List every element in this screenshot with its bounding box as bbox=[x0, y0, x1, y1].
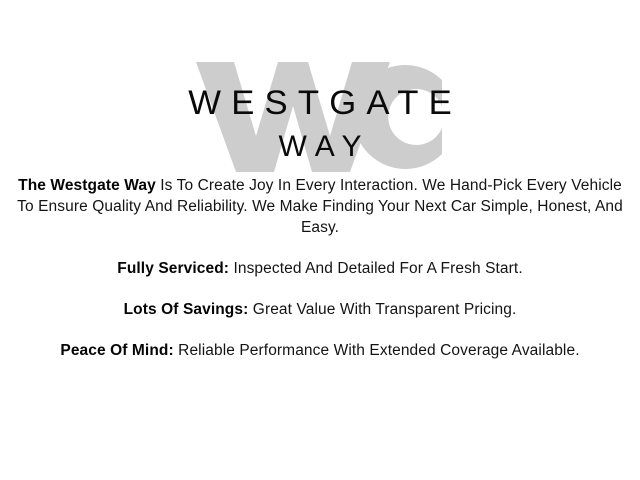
paragraph-lots-of-savings: Lots Of Savings: Great Value With Transp… bbox=[12, 299, 628, 320]
paragraph-peace-of-mind: Peace Of Mind: Reliable Performance With… bbox=[12, 340, 628, 361]
paragraph-fully-serviced: Fully Serviced: Inspected And Detailed F… bbox=[12, 258, 628, 279]
paragraph-philosophy: The Westgate Way Is To Create Joy In Eve… bbox=[12, 175, 628, 238]
paragraph-body: Inspected And Detailed For A Fresh Start… bbox=[229, 260, 523, 277]
logo-line-way: WAY bbox=[0, 132, 640, 162]
paragraph-lead: Fully Serviced: bbox=[117, 260, 229, 277]
brand-logo-lockup: WESTGATE WAY bbox=[0, 0, 640, 175]
paragraph-lead: Peace Of Mind: bbox=[60, 342, 173, 359]
paragraph-body: Reliable Performance With Extended Cover… bbox=[174, 342, 580, 359]
paragraph-body: Great Value With Transparent Pricing. bbox=[248, 301, 516, 318]
dealer-value-proposition: The Westgate Way Is To Create Joy In Eve… bbox=[0, 175, 640, 361]
paragraph-lead: The Westgate Way bbox=[18, 177, 156, 194]
logo-line-westgate: WESTGATE bbox=[0, 86, 640, 120]
logo-wordmark: WESTGATE WAY bbox=[0, 0, 640, 162]
paragraph-lead: Lots Of Savings: bbox=[124, 301, 249, 318]
dealer-info-card: WESTGATE WAY The Westgate Way Is To Crea… bbox=[0, 0, 640, 480]
